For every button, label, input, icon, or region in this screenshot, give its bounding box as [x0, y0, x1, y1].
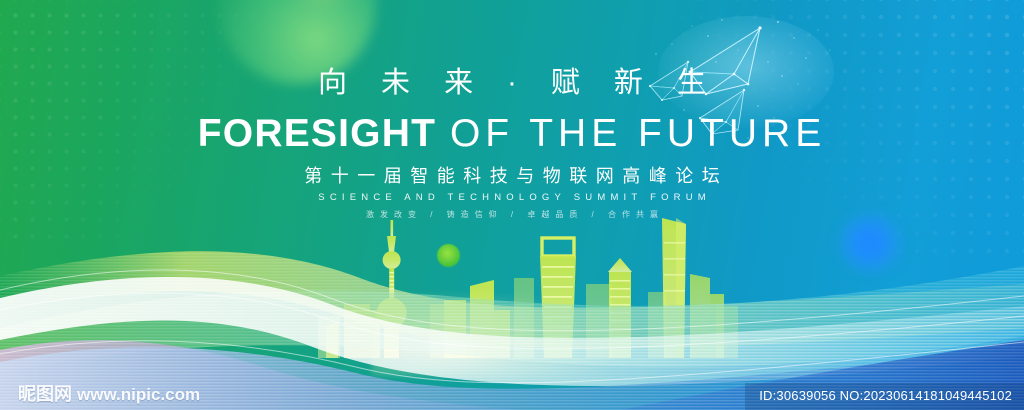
english-subtitle: SCIENCE AND TECHNOLOGY SUMMIT FORUM: [0, 191, 1024, 204]
image-id-watermark: ID:30639056 NO:20230614181049445102: [745, 383, 1024, 410]
english-headline-light: OF THE FUTURE: [450, 112, 826, 155]
english-headline-bold: FORESIGHT: [198, 112, 436, 155]
watermark-left: 昵图网 www.nipic.com: [18, 385, 200, 404]
promotional-banner: 向 未 来 · 赋 新 生 FORESIGHT OF THE FUTURE 第十…: [0, 0, 1024, 410]
chinese-headline: 向 未 来 · 赋 新 生: [0, 66, 1024, 100]
nipic-logo: 昵图网: [18, 385, 72, 404]
slogan-line: 激发改变 / 铸造信仰 / 卓越品质 / 合作共赢: [0, 209, 1024, 221]
nipic-url: www.nipic.com: [77, 386, 200, 404]
english-headline: FORESIGHT OF THE FUTURE: [0, 112, 1024, 156]
chinese-subtitle: 第十一届智能科技与物联网高峰论坛: [0, 165, 1024, 187]
banner-text-block: 向 未 来 · 赋 新 生 FORESIGHT OF THE FUTURE 第十…: [0, 0, 1024, 221]
